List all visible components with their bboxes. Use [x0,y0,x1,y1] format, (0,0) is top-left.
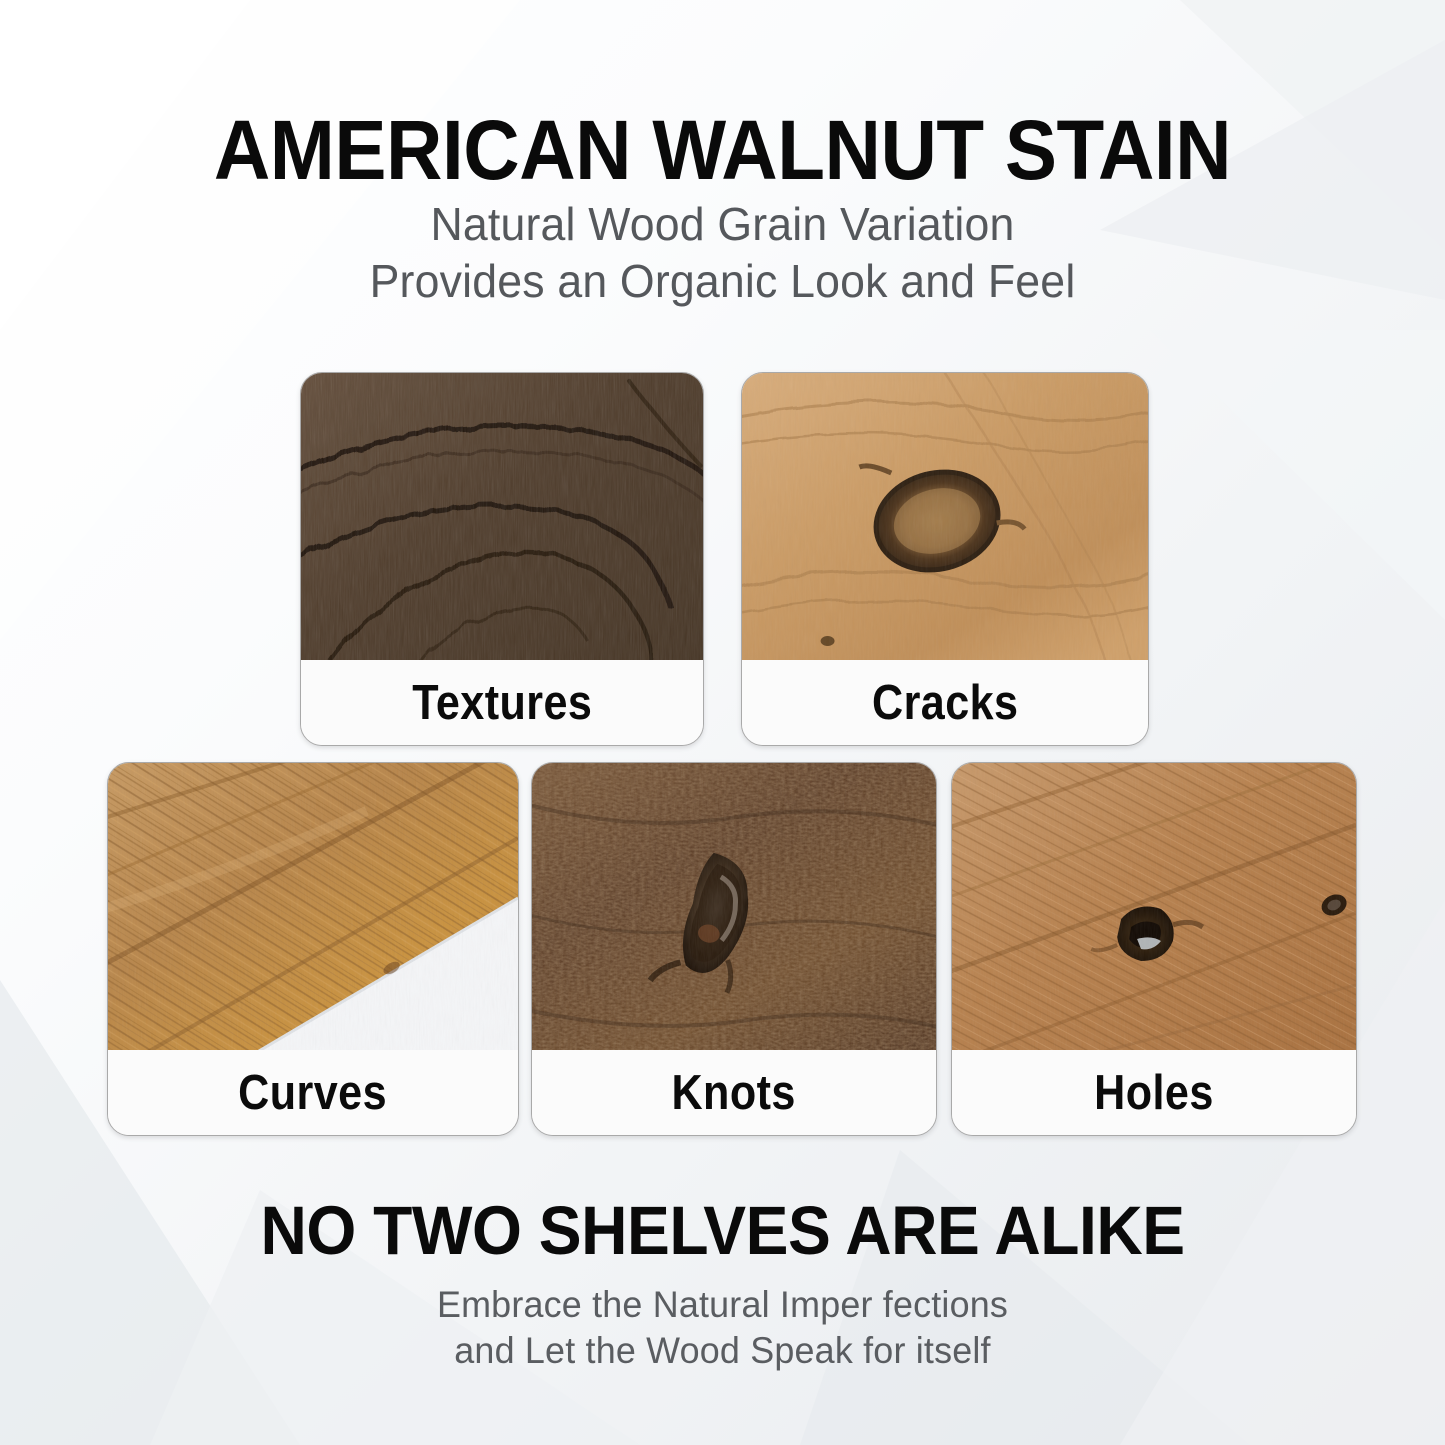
feature-card-holes[interactable]: Holes [951,762,1357,1136]
footer-subtitle-line-2: and Let the Wood Speak for itself [22,1328,1424,1374]
header-subtitle-line-2: Provides an Organic Look and Feel [22,253,1424,310]
infographic-poster: AMERICAN WALNUT STAIN Natural Wood Grain… [0,0,1445,1445]
page-title: AMERICAN WALNUT STAIN [51,104,1395,196]
card-label-textures: Textures [301,660,703,745]
feature-card-knots[interactable]: Knots [531,762,937,1136]
header-block: AMERICAN WALNUT STAIN Natural Wood Grain… [0,104,1445,310]
card-label-text: Knots [672,1065,796,1121]
feature-card-curves[interactable]: Curves [107,762,519,1136]
wood-photo-textures [301,373,703,662]
footer-subtitle-line-1: Embrace the Natural Imper fections [22,1282,1424,1328]
wood-photo-curves [108,763,518,1052]
card-label-holes: Holes [952,1050,1356,1135]
feature-card-cracks[interactable]: Cracks [741,372,1149,746]
feature-card-textures[interactable]: Textures [300,372,704,746]
wood-photo-holes [952,763,1356,1052]
card-label-text: Curves [239,1065,388,1121]
header-subtitle: Natural Wood Grain Variation Provides an… [0,196,1445,310]
header-subtitle-line-1: Natural Wood Grain Variation [22,196,1424,253]
wood-photo-knots [532,763,936,1052]
card-label-curves: Curves [108,1050,518,1135]
footer-subtitle: Embrace the Natural Imper fections and L… [0,1282,1445,1374]
wood-photo-cracks [742,373,1148,662]
footer-block: NO TWO SHELVES ARE ALIKE Embrace the Nat… [0,1192,1445,1374]
card-label-knots: Knots [532,1050,936,1135]
card-label-text: Textures [412,675,592,731]
footer-title: NO TWO SHELVES ARE ALIKE [51,1192,1395,1270]
card-label-text: Cracks [872,675,1018,731]
card-label-cracks: Cracks [742,660,1148,745]
card-label-text: Holes [1094,1065,1214,1121]
